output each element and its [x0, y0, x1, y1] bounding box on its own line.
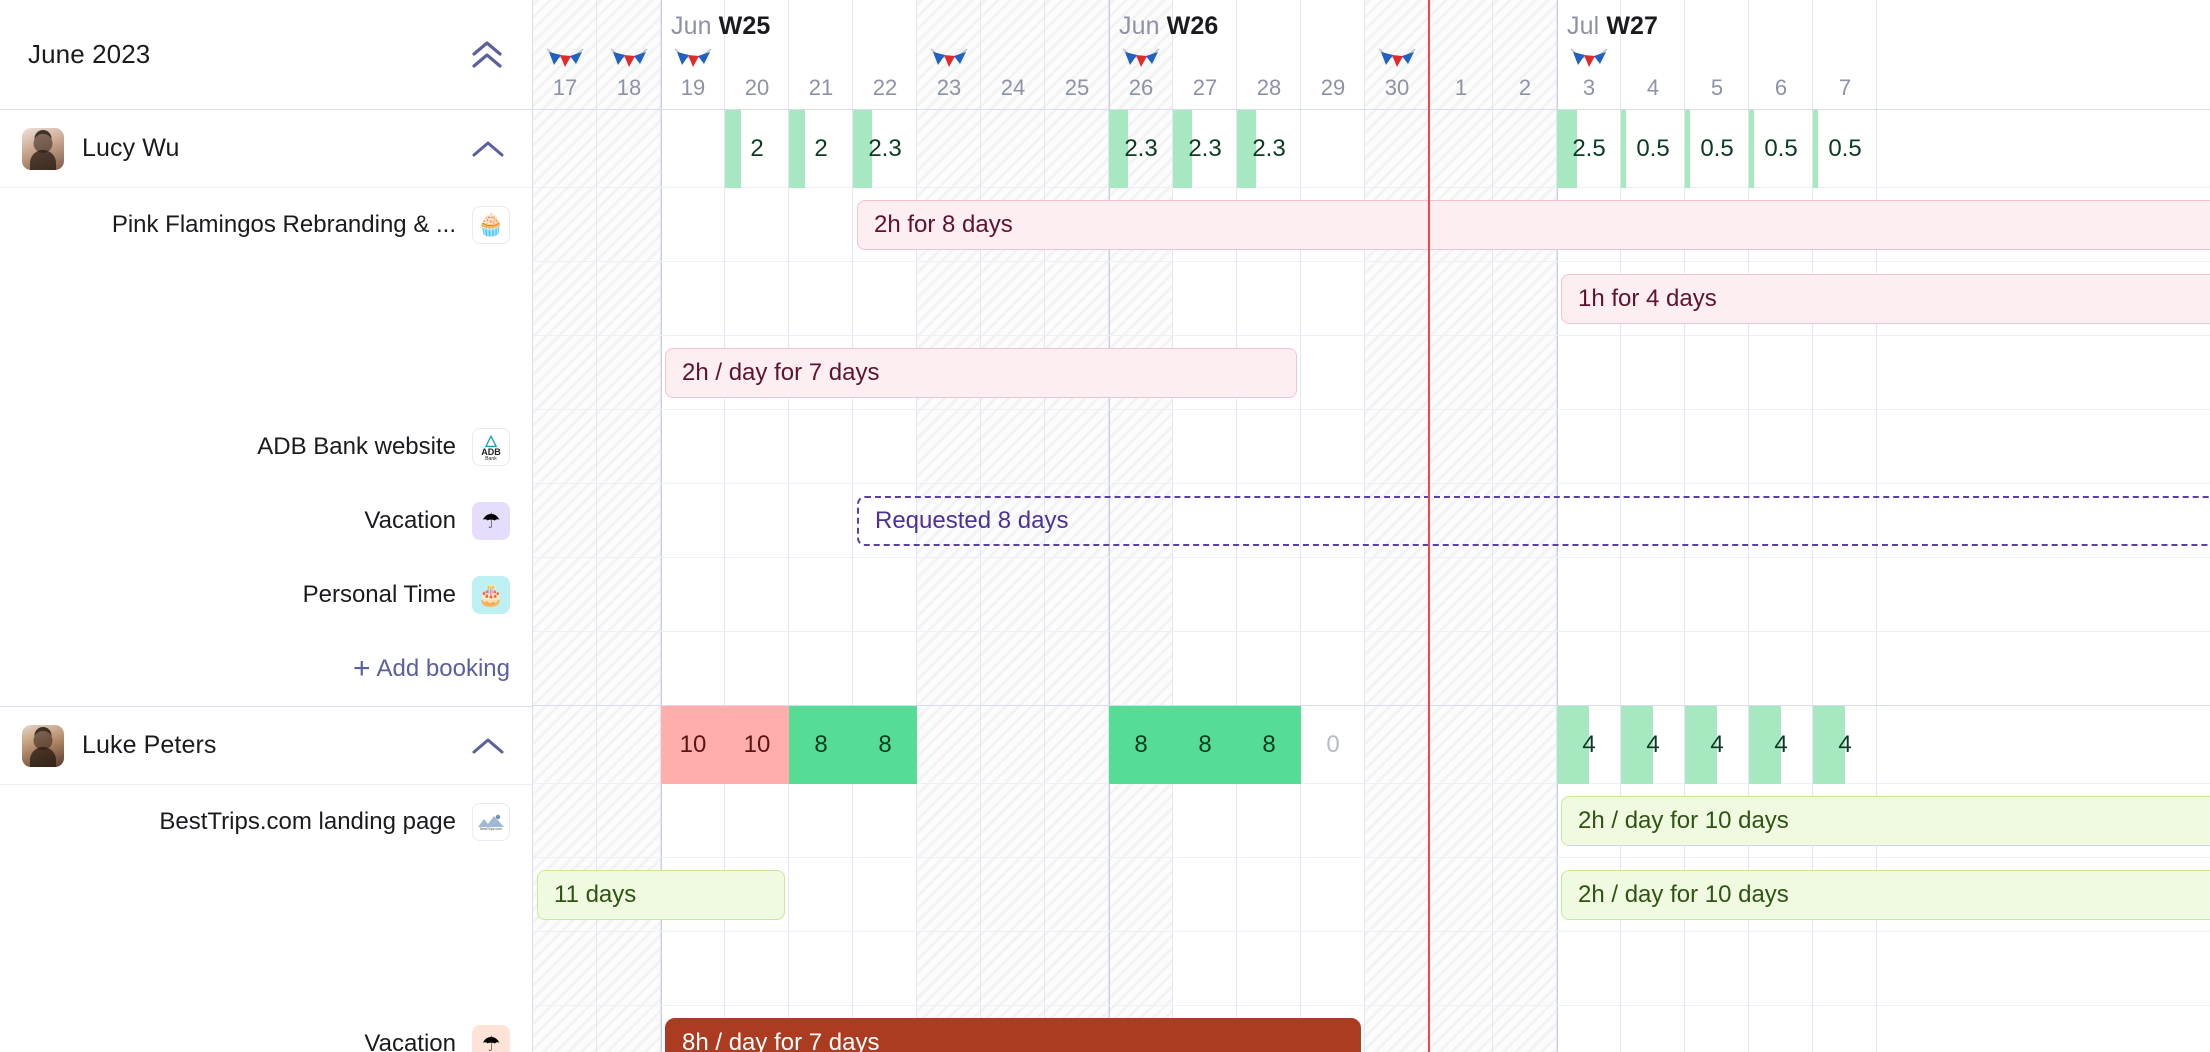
timeline-week-label: Jun W26 [1119, 12, 1218, 41]
capacity-cell[interactable]: 8 [1173, 706, 1237, 784]
booking-bar-label: Requested 8 days [875, 507, 1068, 535]
timeline-day-number: 23 [917, 75, 981, 101]
cake-icon: 🎂 [472, 576, 510, 614]
empty-row [0, 336, 532, 410]
row-divider [533, 931, 2210, 932]
capacity-value: 8 [814, 731, 827, 759]
sidebar: June 2023 Lucy WuPink Flamingos Rebrandi… [0, 0, 533, 1052]
svg-text:BestTrips.com: BestTrips.com [480, 827, 502, 831]
timeline-day-number: 28 [1237, 75, 1301, 101]
booking-row-title: Personal Time [303, 581, 456, 609]
holiday-bunting-icon [1109, 47, 1173, 73]
holiday-bunting-icon [661, 47, 725, 73]
capacity-cell[interactable]: 10 [725, 706, 789, 784]
capacity-value: 10 [744, 731, 771, 759]
booking-bar[interactable]: Requested 8 days [857, 496, 2210, 546]
booking-row-label[interactable]: Pink Flamingos Rebranding & ...🧁 [0, 188, 532, 262]
timeline-day-column[interactable] [917, 110, 981, 1052]
row-divider [533, 261, 2210, 262]
today-marker [1428, 0, 1430, 1052]
row-divider [533, 1005, 2210, 1006]
booking-bar[interactable]: 2h / day for 10 days [1561, 796, 2210, 846]
capacity-value: 2.3 [1124, 135, 1157, 163]
timeline-day-number: 4 [1621, 75, 1685, 101]
capacity-cell[interactable]: 2 [725, 110, 789, 188]
timeline-day-number: 19 [661, 75, 725, 101]
capacity-value: 2 [814, 135, 827, 163]
timeline-day-number: 20 [725, 75, 789, 101]
holiday-bunting-icon [533, 47, 597, 73]
booking-bar-label: 2h / day for 7 days [682, 359, 879, 387]
avatar-lucy-wu [22, 128, 64, 170]
timeline-header: 17181920212223242526272829301234567Jun W… [533, 0, 2210, 110]
row-divider [533, 483, 2210, 484]
timeline-day-number: 6 [1749, 75, 1813, 101]
capacity-cell[interactable]: 2.3 [1109, 110, 1173, 188]
timeline-day-number: 2 [1493, 75, 1557, 101]
row-divider [533, 631, 2210, 632]
capacity-value: 0.5 [1828, 135, 1861, 163]
timeline-day-number: 7 [1813, 75, 1877, 101]
collapse-all-button[interactable] [464, 32, 510, 78]
capacity-fill-bar [725, 110, 741, 188]
timeline-day-column[interactable] [789, 110, 853, 1052]
capacity-value: 4 [1582, 731, 1595, 759]
adb-bank-logo-icon: △ADBBank [472, 428, 510, 466]
booking-bar[interactable]: 1h for 4 days [1561, 274, 2210, 324]
holiday-bunting-icon [597, 47, 661, 73]
timeline-day-number: 18 [597, 75, 661, 101]
capacity-value: 2.3 [868, 135, 901, 163]
capacity-cell[interactable]: 2.3 [1173, 110, 1237, 188]
timeline-day-column[interactable] [853, 110, 917, 1052]
timeline-day-column[interactable] [981, 110, 1045, 1052]
capacity-cell[interactable]: 8 [1237, 706, 1301, 784]
booking-bar[interactable]: 2h / day for 7 days [665, 348, 1297, 398]
timeline-day-number: 21 [789, 75, 853, 101]
timeline-day-number: 25 [1045, 75, 1109, 101]
row-divider [533, 857, 2210, 858]
capacity-value: 2.5 [1572, 135, 1605, 163]
booking-bar-label: 2h / day for 10 days [1578, 881, 1789, 909]
booking-bar-label: 2h for 8 days [874, 211, 1013, 239]
capacity-value: 10 [680, 731, 707, 759]
timeline-day-column[interactable] [1045, 110, 1109, 1052]
booking-row-label[interactable]: Vacation☂ [0, 484, 532, 558]
timeline-day-column[interactable] [1429, 110, 1493, 1052]
timeline-day-column[interactable] [1493, 110, 1557, 1052]
empty-row [0, 933, 532, 1007]
capacity-cell[interactable]: 4 [1685, 706, 1749, 784]
capacity-cell[interactable]: 2.3 [1237, 110, 1301, 188]
capacity-cell[interactable]: 0.5 [1813, 110, 1877, 188]
booking-bar[interactable]: 8h / day for 7 days [665, 1018, 1361, 1052]
booking-row-title: BestTrips.com landing page [159, 808, 456, 836]
capacity-fill-bar [1749, 110, 1754, 188]
capacity-cell[interactable]: 4 [1749, 706, 1813, 784]
capacity-cell[interactable]: 4 [1813, 706, 1877, 784]
capacity-cell[interactable]: 0 [1301, 706, 1365, 784]
row-divider [533, 557, 2210, 558]
timeline-day-column[interactable] [1237, 110, 1301, 1052]
booking-bar-label: 1h for 4 days [1578, 285, 1717, 313]
cupcake-icon: 🧁 [472, 206, 510, 244]
booking-row-title: Vacation [364, 1030, 456, 1052]
booking-bar-label: 2h / day for 10 days [1578, 807, 1789, 835]
capacity-value: 2.3 [1252, 135, 1285, 163]
sidebar-header: June 2023 [0, 0, 532, 110]
chevron-up-icon [471, 735, 505, 757]
booking-row-title: Vacation [364, 507, 456, 535]
booking-row-title: ADB Bank website [257, 433, 456, 461]
capacity-value: 2.3 [1188, 135, 1221, 163]
capacity-cell[interactable]: 8 [789, 706, 853, 784]
chevron-up-icon [471, 138, 505, 160]
capacity-cell[interactable]: 8 [1109, 706, 1173, 784]
capacity-fill-bar [1813, 110, 1818, 188]
empty-row [0, 859, 532, 933]
capacity-value: 4 [1710, 731, 1723, 759]
booking-bar[interactable]: 11 days [537, 870, 785, 920]
timeline-day-number: 22 [853, 75, 917, 101]
plus-icon: + [353, 654, 371, 684]
chevron-double-up-icon [469, 39, 505, 71]
capacity-cell[interactable]: 8 [853, 706, 917, 784]
page-title: June 2023 [28, 39, 464, 70]
timeline-day-column[interactable] [1365, 110, 1429, 1052]
capacity-value: 0.5 [1764, 135, 1797, 163]
capacity-cell[interactable]: 4 [1621, 706, 1685, 784]
capacity-cell[interactable]: 2 [789, 110, 853, 188]
scheduling-timeline-app: June 2023 Lucy WuPink Flamingos Rebrandi… [0, 0, 2210, 1052]
person-collapse-button[interactable] [466, 724, 510, 768]
capacity-value: 0 [1326, 731, 1339, 759]
avatar-luke-peters [22, 725, 64, 767]
capacity-cell[interactable]: 0.5 [1621, 110, 1685, 188]
timeline-pane[interactable]: 17181920212223242526272829301234567Jun W… [533, 0, 2210, 1052]
capacity-cell[interactable]: 0.5 [1685, 110, 1749, 188]
capacity-fill-bar [1685, 110, 1690, 188]
booking-bar[interactable]: 2h / day for 10 days [1561, 870, 2210, 920]
besttrips-logo-icon: BestTrips.com [472, 803, 510, 841]
capacity-cell[interactable]: 0.5 [1749, 110, 1813, 188]
timeline-day-number: 26 [1109, 75, 1173, 101]
timeline-day-number: 17 [533, 75, 597, 101]
person-name: Luke Peters [64, 731, 466, 760]
capacity-value: 8 [1198, 731, 1211, 759]
empty-row [0, 262, 532, 336]
capacity-value: 8 [878, 731, 891, 759]
capacity-value: 4 [1838, 731, 1851, 759]
timeline-day-column[interactable] [1301, 110, 1365, 1052]
person-collapse-button[interactable] [466, 127, 510, 171]
capacity-cell[interactable]: 10 [661, 706, 725, 784]
holiday-bunting-icon [917, 47, 981, 73]
timeline-day-number: 29 [1301, 75, 1365, 101]
timeline-body[interactable]: 222.32.32.32.32.50.50.50.50.52h for 8 da… [533, 110, 2210, 1052]
booking-row-label[interactable]: ADB Bank website△ADBBank [0, 410, 532, 484]
booking-bar[interactable]: 2h for 8 days [857, 200, 2210, 250]
capacity-cell[interactable]: 2.5 [1557, 110, 1621, 188]
timeline-day-column[interactable] [1173, 110, 1237, 1052]
booking-row-label[interactable]: BestTrips.com landing pageBestTrips.com [0, 785, 532, 859]
capacity-fill-bar [1621, 110, 1626, 188]
sidebar-body: Lucy WuPink Flamingos Rebranding & ...🧁A… [0, 110, 532, 1052]
holiday-bunting-icon [1557, 47, 1621, 73]
booking-bar-label: 8h / day for 7 days [682, 1029, 879, 1052]
timeline-day-number: 27 [1173, 75, 1237, 101]
person-header-lucy-wu[interactable]: Lucy Wu [0, 110, 532, 188]
timeline-week-label: Jul W27 [1567, 12, 1658, 41]
booking-row-label[interactable]: Vacation☂ [0, 1007, 532, 1052]
row-divider [533, 335, 2210, 336]
add-booking-button[interactable]: +Add booking [0, 632, 532, 706]
person-header-luke-peters[interactable]: Luke Peters [0, 707, 532, 785]
capacity-value: 2 [750, 135, 763, 163]
timeline-day-number: 5 [1685, 75, 1749, 101]
person-name: Lucy Wu [64, 134, 466, 163]
capacity-value: 0.5 [1636, 135, 1669, 163]
capacity-value: 4 [1646, 731, 1659, 759]
timeline-day-number: 24 [981, 75, 1045, 101]
capacity-value: 4 [1774, 731, 1787, 759]
umbrella-icon: ☂ [472, 502, 510, 540]
booking-bar-label: 11 days [554, 881, 636, 909]
timeline-day-number: 3 [1557, 75, 1621, 101]
holiday-bunting-icon [1365, 47, 1429, 73]
capacity-fill-bar [789, 110, 805, 188]
booking-row-label[interactable]: Personal Time🎂 [0, 558, 532, 632]
capacity-value: 0.5 [1700, 135, 1733, 163]
add-booking-label: Add booking [377, 655, 510, 683]
capacity-cell[interactable]: 2.3 [853, 110, 917, 188]
capacity-cell[interactable]: 4 [1557, 706, 1621, 784]
timeline-day-column[interactable] [1109, 110, 1173, 1052]
booking-row-title: Pink Flamingos Rebranding & ... [112, 211, 456, 239]
capacity-value: 8 [1262, 731, 1275, 759]
capacity-value: 8 [1134, 731, 1147, 759]
row-divider [533, 409, 2210, 410]
timeline-day-number: 1 [1429, 75, 1493, 101]
timeline-week-label: Jun W25 [671, 12, 770, 41]
umbrella-icon: ☂ [472, 1025, 510, 1052]
timeline-day-number: 30 [1365, 75, 1429, 101]
